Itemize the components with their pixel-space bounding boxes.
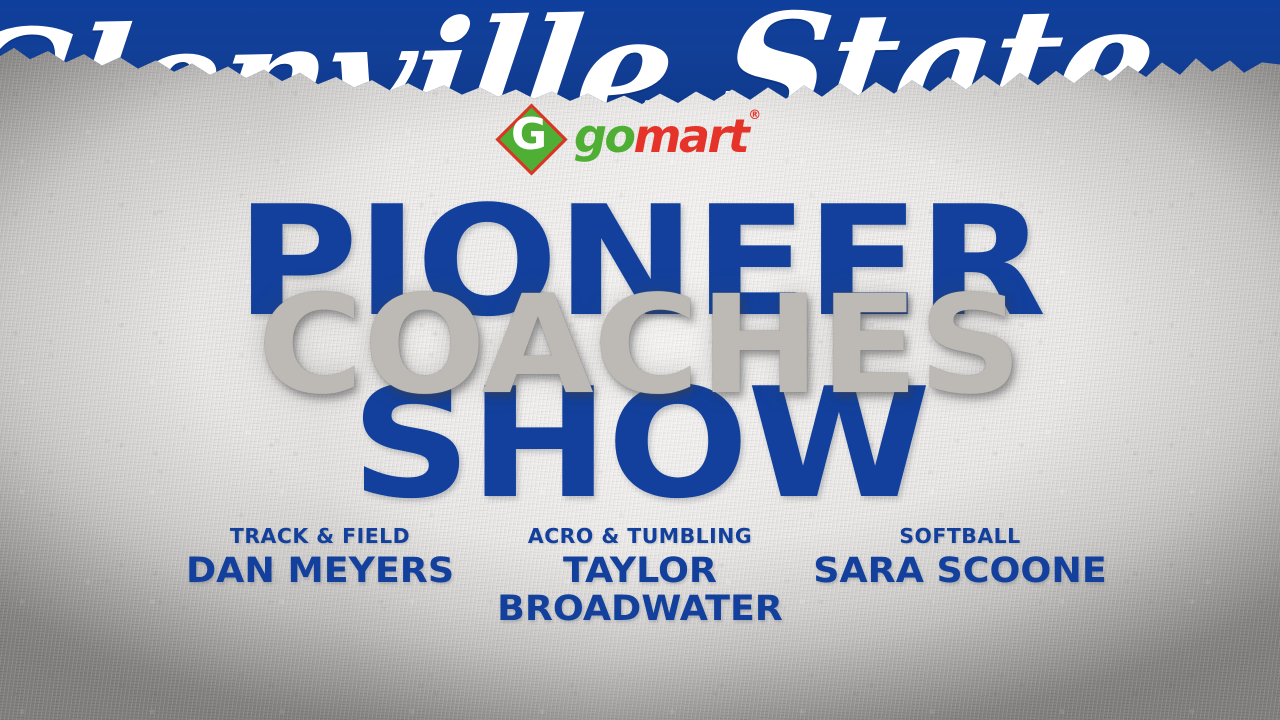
pioneer-coaches-show-graphic: Glenville State G gomart® PIONEER SHOW C… <box>0 0 1280 720</box>
gomart-word-mart: mart <box>634 109 748 163</box>
coach-column-track-and-field: TRACK & FIELD DAN MEYERS <box>160 524 480 591</box>
coach-name-label: SARA SCOONE <box>800 553 1120 591</box>
gomart-g-letter: G <box>497 105 560 168</box>
headline-coaches: COACHES <box>0 278 1280 414</box>
headline-stack: PIONEER SHOW COACHES <box>0 186 1280 516</box>
registered-trademark-icon: ® <box>748 109 759 122</box>
coach-column-softball: SOFTBALL SARA SCOONE <box>800 524 1120 591</box>
coach-name-label: DAN MEYERS <box>160 553 480 591</box>
gomart-diamond-icon: G <box>497 105 560 168</box>
coach-name-label: TAYLOR BROADWATER <box>480 553 800 629</box>
coach-credits: TRACK & FIELD DAN MEYERS ACRO & TUMBLING… <box>0 524 1280 629</box>
coach-column-acro-and-tumbling: ACRO & TUMBLING TAYLOR BROADWATER <box>480 524 800 629</box>
gomart-sponsor-logo: G gomart® <box>497 100 797 172</box>
gomart-word-go: go <box>574 109 634 163</box>
gomart-wordmark: gomart® <box>574 113 747 159</box>
